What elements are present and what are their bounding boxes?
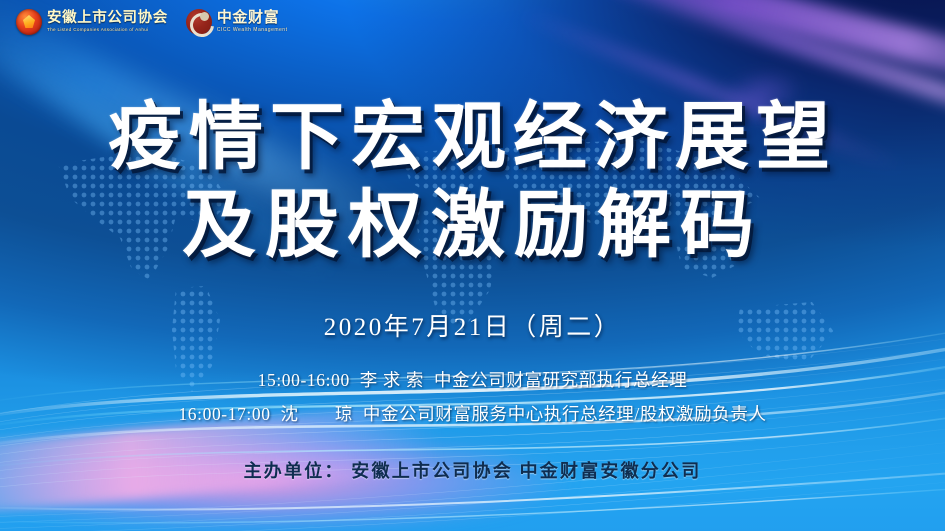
title-line-1: 疫情下宏观经济展望: [0, 94, 945, 182]
logo-cicc-wealth: 中金财富 CICC Wealth Management: [186, 9, 288, 35]
logo-anhui-name-cn: 安徽上市公司协会: [47, 11, 168, 26]
schedule-row-1: 15:00-16:00 李 求 索 中金公司财富研究部执行总经理: [0, 363, 945, 397]
anhui-association-emblem-icon: [16, 9, 42, 35]
host-organizations-text: 主办单位： 安徽上市公司协会 中金财富安徽分公司: [0, 457, 945, 483]
host-organizations: 主办单位： 安徽上市公司协会 中金财富安徽分公司: [0, 457, 945, 483]
cicc-wealth-spiral-icon: [186, 9, 212, 35]
logo-cicc-name-cn: 中金财富: [217, 11, 288, 26]
poster-title: 疫情下宏观经济展望 及股权激励解码: [0, 94, 945, 270]
schedule-row-2: 16:00-17:00 沈 琼 中金公司财富服务中心执行总经理/股权激励负责人: [0, 397, 945, 431]
logo-anhui-association: 安徽上市公司协会 The Listed Companies Associatio…: [16, 9, 168, 35]
logo-cicc-name-en: CICC Wealth Management: [217, 28, 288, 33]
event-date: 2020年7月21日（周二）: [0, 307, 945, 343]
logo-row: 安徽上市公司协会 The Listed Companies Associatio…: [16, 9, 287, 35]
event-date-text: 2020年7月21日（周二）: [0, 307, 945, 343]
schedule-list: 15:00-16:00 李 求 索 中金公司财富研究部执行总经理 16:00-1…: [0, 363, 945, 431]
logo-anhui-name-en: The Listed Companies Association of Anhu…: [47, 28, 168, 33]
title-line-2: 及股权激励解码: [0, 182, 945, 270]
event-poster: 安徽上市公司协会 The Listed Companies Associatio…: [0, 0, 945, 531]
